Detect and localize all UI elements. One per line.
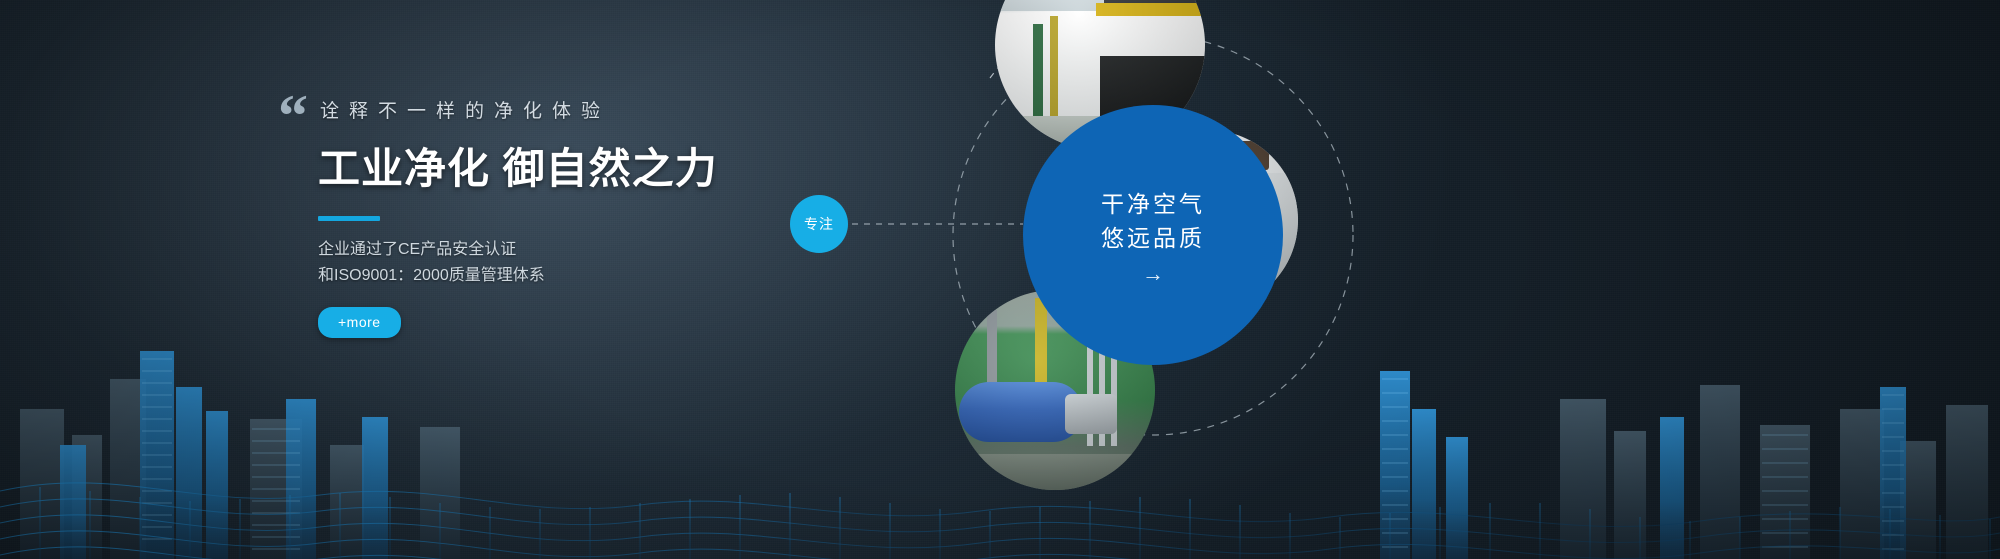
- accent-divider: [318, 216, 380, 221]
- circle-graphic-cluster: 专注 干净空气 悠远品质 →: [740, 0, 2000, 559]
- quote-mark-icon: “: [278, 94, 306, 138]
- main-cta-line-2: 悠远品质: [1101, 221, 1205, 255]
- main-cta-circle[interactable]: 干净空气 悠远品质 →: [1023, 105, 1283, 365]
- arrow-right-icon: →: [1142, 265, 1164, 283]
- dashed-connector-lines: [740, 0, 2000, 559]
- more-button[interactable]: +more: [318, 307, 401, 338]
- main-cta-line-1: 干净空气: [1101, 187, 1205, 221]
- focus-badge[interactable]: 专注: [790, 195, 848, 253]
- hero-banner: “ 诠释不一样的净化体验 工业净化 御自然之力 企业通过了CE产品安全认证 和I…: [0, 0, 2000, 559]
- focus-badge-label: 专注: [804, 214, 834, 234]
